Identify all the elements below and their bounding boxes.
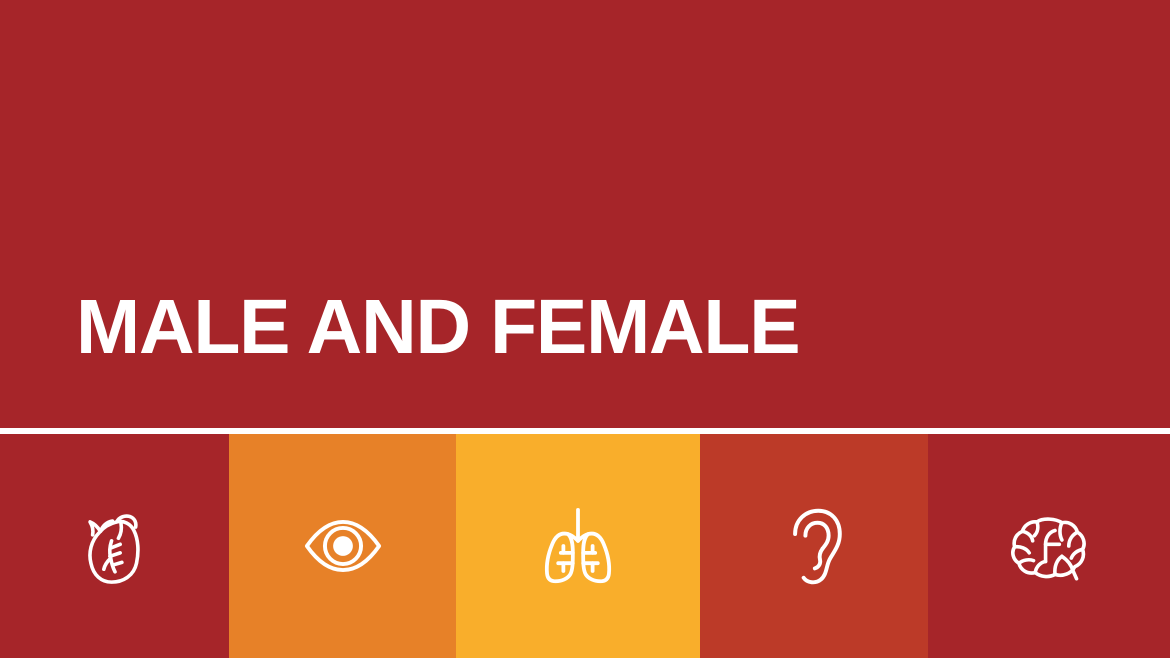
title-line-1: MALE AND FEMALE: [76, 284, 799, 370]
panel-heart: [0, 434, 229, 658]
title-area: MALE AND FEMALE HE CREATED THEM: [0, 0, 1170, 427]
eye-icon: [300, 503, 386, 589]
panel-ear: [700, 434, 928, 658]
ear-icon: [771, 503, 857, 589]
panel-brain: [928, 434, 1170, 658]
anatomical-heart-icon: [72, 503, 158, 589]
panel-eye: [229, 434, 456, 658]
brain-icon: [1006, 503, 1092, 589]
panel-lungs: [456, 434, 700, 658]
icon-band: [0, 434, 1170, 658]
lungs-icon: [535, 503, 621, 589]
presentation-slide: MALE AND FEMALE HE CREATED THEM: [0, 0, 1170, 658]
